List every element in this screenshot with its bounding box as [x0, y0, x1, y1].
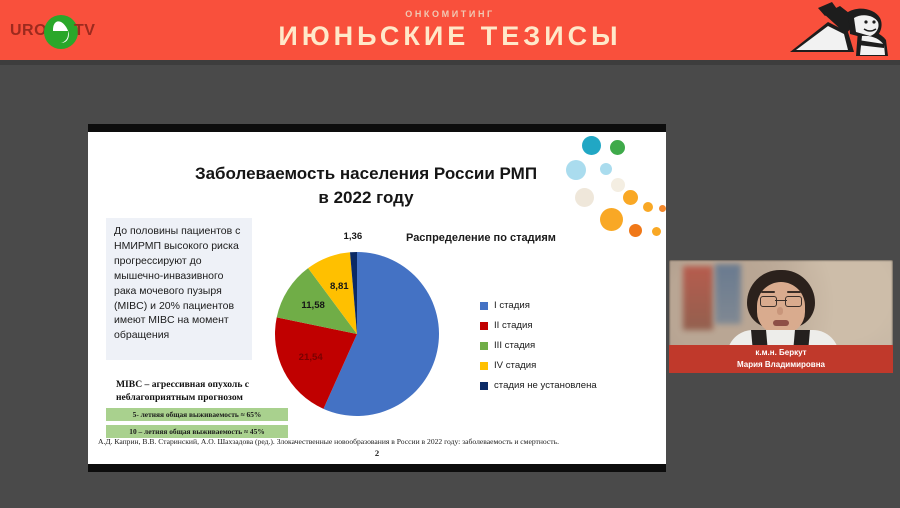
legend-label: стадия не установлена: [494, 380, 597, 391]
presentation-slide: Заболеваемость населения России РМП в 20…: [88, 132, 666, 464]
legend-swatch: [480, 382, 488, 390]
mibc-callout: MIBC – агрессивная опухоль с неблагоприя…: [106, 378, 288, 438]
slide-title-line2: в 2022 году: [318, 188, 413, 207]
legend-swatch: [480, 342, 488, 350]
pie-chart-svg: [273, 250, 441, 418]
chart-title: Распределение по стадиям: [406, 232, 556, 244]
speaker-name-line: Мария Владимировна: [737, 359, 825, 371]
slide-title: Заболеваемость населения России РМП в 20…: [146, 162, 586, 210]
legend-item: III стадия: [480, 340, 597, 351]
banner-divider: [0, 60, 900, 65]
participant-eyebrow: [787, 291, 801, 293]
legend-label: II стадия: [494, 320, 533, 331]
mibc-survival-5y: 5- летняя общая выживаемость ≈ 65%: [133, 410, 262, 419]
legend-label: III стадия: [494, 340, 535, 351]
pie-label-stage2: 21,54: [297, 352, 325, 363]
legend-swatch: [480, 362, 488, 370]
slide-citation: А.Д. Каприн, В.В. Старинский, А.О. Шахза…: [98, 437, 658, 446]
pie-chart: 21,54 11,58 8,81 1,36: [273, 250, 441, 418]
pie-label-stage3: 11,58: [299, 300, 327, 311]
video-background-accent: [715, 264, 741, 324]
sidebar-text-box: До половины пациентов с НМИРМП высокого …: [106, 218, 252, 360]
presentation-slide-frame[interactable]: Заболеваемость населения России РМП в 20…: [88, 124, 666, 472]
legend-label: IV стадия: [494, 360, 536, 371]
legend-swatch: [480, 322, 488, 330]
sidebar-text: До половины пациентов с НМИРМП высокого …: [106, 218, 252, 343]
mibc-heading: MIBC – агрессивная опухоль с неблагоприя…: [106, 378, 288, 404]
speaker-nametag: к.м.н. Беркут Мария Владимировна: [669, 345, 893, 373]
glasses-icon: [760, 296, 802, 305]
legend-item: I стадия: [480, 300, 597, 311]
participant-nose: [777, 307, 783, 315]
participant-eyebrow: [761, 291, 775, 293]
video-background-accent: [683, 266, 713, 330]
legend-label: I стадия: [494, 300, 530, 311]
legend-item: II стадия: [480, 320, 597, 331]
pie-label-stage4: 8,81: [325, 281, 353, 292]
banner-kicker: ОНКОМИТИНГ: [0, 9, 900, 19]
constructivist-worker-icon: [788, 0, 900, 60]
legend-swatch: [480, 302, 488, 310]
chart-legend: I стадияII стадияIII стадияIV стадиястад…: [480, 300, 597, 400]
slide-title-line1: Заболеваемость населения России РМП: [195, 164, 537, 183]
speaker-title-line: к.м.н. Беркут: [755, 347, 806, 359]
mibc-survival-bar: 5- летняя общая выживаемость ≈ 65%: [106, 408, 288, 421]
event-banner: URO TV ОНКОМИТИНГ ИЮНЬСКИЕ ТЕЗИСЫ: [0, 0, 900, 60]
pie-label-stage-unknown: 1,36: [339, 231, 367, 242]
slide-page-number: 2: [88, 448, 666, 458]
legend-item: IV стадия: [480, 360, 597, 371]
legend-item: стадия не установлена: [480, 380, 597, 391]
banner-title: ИЮНЬСКИЕ ТЕЗИСЫ: [0, 21, 900, 52]
mibc-survival-10y: 10 – летняя общая выживаемость ≈ 45%: [129, 427, 264, 436]
participant-mouth: [773, 320, 789, 326]
meeting-screenshare-view: URO TV ОНКОМИТИНГ ИЮНЬСКИЕ ТЕЗИСЫ: [0, 0, 900, 508]
